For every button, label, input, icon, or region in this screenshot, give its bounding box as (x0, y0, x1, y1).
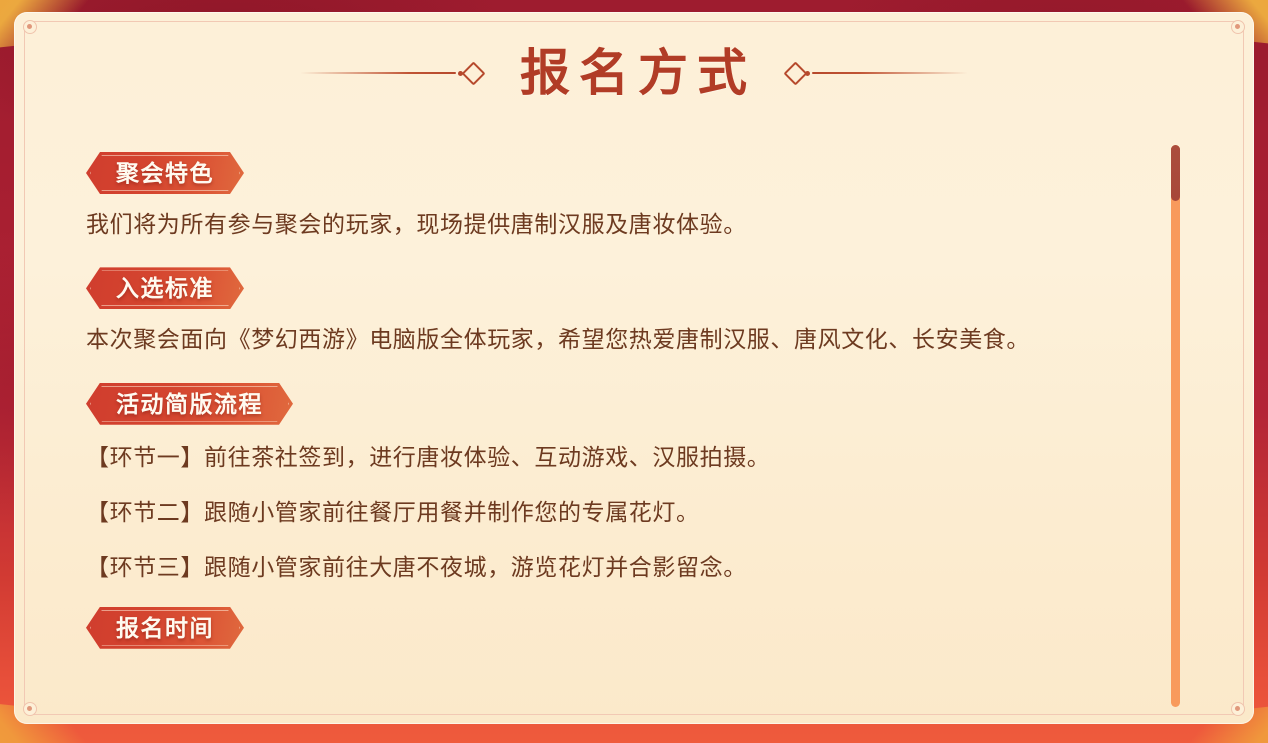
corner-notch-top-left-icon (23, 20, 37, 34)
section-meetup-features: 聚会特色 我们将为所有参与聚会的玩家，现场提供唐制汉服及唐妆体验。 (86, 152, 1106, 241)
badge-label: 报名时间 (116, 615, 214, 641)
event-step-item: 【环节三】跟随小管家前往大唐不夜城，游览花灯并合影留念。 (86, 551, 1106, 584)
page-title: 报名方式 (490, 48, 778, 98)
vertical-scrollbar[interactable] (1171, 145, 1180, 707)
section-badge-event-process: 活动简版流程 (86, 383, 293, 425)
decorative-outer-frame: 报名方式 聚会特色 我们将为所有参与聚会的玩家，现场提供唐制汉服及唐妆体验。 入… (0, 0, 1268, 743)
badge-label: 聚会特色 (116, 160, 214, 186)
section-badge-selection-criteria: 入选标准 (86, 267, 244, 309)
scrollbar-thumb[interactable] (1171, 145, 1180, 201)
title-rule-right (812, 72, 968, 74)
event-step-list: 【环节一】前往茶社签到，进行唐妆体验、互动游戏、汉服拍摄。 【环节二】跟随小管家… (86, 441, 1106, 585)
section-registration-time: 报名时间 (86, 607, 1106, 649)
section-event-process: 活动简版流程 【环节一】前往茶社签到，进行唐妆体验、互动游戏、汉服拍摄。 【环节… (86, 383, 1106, 585)
badge-label: 活动简版流程 (116, 391, 263, 417)
section-body-meetup-features: 我们将为所有参与聚会的玩家，现场提供唐制汉服及唐妆体验。 (86, 208, 1106, 241)
scrollbar-track[interactable] (1171, 145, 1180, 707)
event-step-item: 【环节一】前往茶社签到，进行唐妆体验、互动游戏、汉服拍摄。 (86, 441, 1106, 474)
corner-notch-bottom-left-icon (23, 702, 37, 716)
corner-notch-bottom-right-icon (1231, 702, 1245, 716)
corner-notch-top-right-icon (1231, 20, 1245, 34)
badge-label: 入选标准 (116, 275, 214, 301)
section-selection-criteria: 入选标准 本次聚会面向《梦幻西游》电脑版全体玩家，希望您热爱唐制汉服、唐风文化、… (86, 267, 1106, 356)
section-badge-registration-time: 报名时间 (86, 607, 244, 649)
event-step-item: 【环节二】跟随小管家前往餐厅用餐并制作您的专属花灯。 (86, 496, 1106, 529)
title-rule-left (300, 72, 456, 74)
diamond-ornament-left-icon (456, 62, 490, 84)
section-badge-meetup-features: 聚会特色 (86, 152, 244, 194)
scrollable-content[interactable]: 聚会特色 我们将为所有参与聚会的玩家，现场提供唐制汉服及唐妆体验。 入选标准 本… (86, 152, 1106, 712)
diamond-ornament-right-icon (778, 62, 812, 84)
page-title-row: 报名方式 (14, 48, 1254, 98)
section-body-selection-criteria: 本次聚会面向《梦幻西游》电脑版全体玩家，希望您热爱唐制汉服、唐风文化、长安美食。 (86, 323, 1106, 356)
content-panel: 报名方式 聚会特色 我们将为所有参与聚会的玩家，现场提供唐制汉服及唐妆体验。 入… (14, 12, 1254, 724)
